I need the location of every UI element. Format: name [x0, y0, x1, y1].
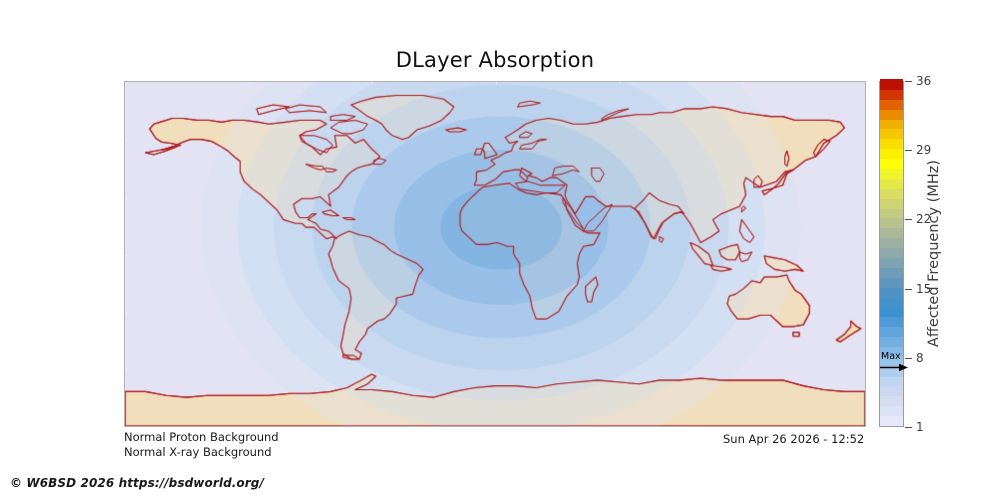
colorbar[interactable]: 1815222936 Max	[879, 81, 904, 427]
colorbar-band	[880, 168, 903, 178]
colorbar-band	[880, 376, 903, 386]
status-annotations: Normal Proton Background Normal X-ray Ba…	[124, 430, 279, 460]
colorbar-band	[880, 396, 903, 406]
colorbar-band	[880, 218, 903, 228]
colorbar-band	[880, 267, 903, 277]
colorbar-tick-label: 8	[916, 351, 924, 365]
colorbar-band	[880, 159, 903, 169]
colorbar-band	[880, 406, 903, 416]
colorbar-tick	[905, 289, 912, 290]
colorbar-band	[880, 327, 903, 337]
colorbar-band	[880, 109, 903, 119]
footer-credit: © W6BSD 2026 https://bsdworld.org/	[10, 476, 264, 490]
gridline-parallel	[125, 370, 865, 371]
colorbar-tick	[905, 150, 912, 151]
colorbar-band	[880, 139, 903, 149]
world-map-panel[interactable]	[124, 81, 866, 427]
gridline-meridian	[743, 82, 744, 426]
colorbar-band	[880, 129, 903, 139]
colorbar-band	[880, 336, 903, 346]
colorbar-band	[880, 198, 903, 208]
colorbar-band	[880, 99, 903, 109]
colorbar-tick	[905, 219, 912, 220]
colorbar-tick	[905, 81, 912, 82]
colorbar-band	[880, 307, 903, 317]
colorbar-band	[880, 89, 903, 99]
page-title: DLayer Absorption	[0, 48, 990, 72]
gridline-parallel	[125, 255, 865, 256]
xray-background-status: Normal X-ray Background	[124, 445, 279, 460]
gridline-meridian	[620, 82, 621, 426]
colorbar-band	[880, 238, 903, 248]
timestamp-label: Sun Apr 26 2026 - 12:52	[723, 432, 864, 446]
colorbar-band	[880, 188, 903, 198]
colorbar-band	[880, 208, 903, 218]
gridline-parallel	[125, 197, 865, 198]
colorbar-gradient	[879, 81, 904, 427]
colorbar-tick	[905, 358, 912, 359]
colorbar-band	[880, 416, 903, 426]
gridline-parallel	[125, 140, 865, 141]
colorbar-band	[880, 257, 903, 267]
colorbar-band	[880, 79, 903, 89]
gridline-parallel	[125, 313, 865, 314]
colorbar-axis-label-text: Affected Frequency (MHz)	[926, 160, 942, 347]
colorbar-band	[880, 119, 903, 129]
colorbar-band	[880, 356, 903, 366]
proton-background-status: Normal Proton Background	[124, 430, 279, 445]
gridline-meridian	[372, 82, 373, 426]
colorbar-band	[880, 178, 903, 188]
absorption-map-canvas	[125, 82, 865, 426]
colorbar-band	[880, 346, 903, 356]
colorbar-band	[880, 297, 903, 307]
colorbar-tick-label: 1	[916, 420, 924, 434]
colorbar-tick	[905, 427, 912, 428]
colorbar-band	[880, 247, 903, 257]
colorbar-band	[880, 277, 903, 287]
colorbar-band	[880, 317, 903, 327]
colorbar-band	[880, 149, 903, 159]
gridline-meridian	[496, 82, 497, 426]
colorbar-band	[880, 386, 903, 396]
colorbar-band	[880, 228, 903, 238]
colorbar-axis-label: Affected Frequency (MHz)	[924, 81, 944, 427]
gridline-meridian	[249, 82, 250, 426]
colorbar-band	[880, 287, 903, 297]
colorbar-band	[880, 366, 903, 376]
